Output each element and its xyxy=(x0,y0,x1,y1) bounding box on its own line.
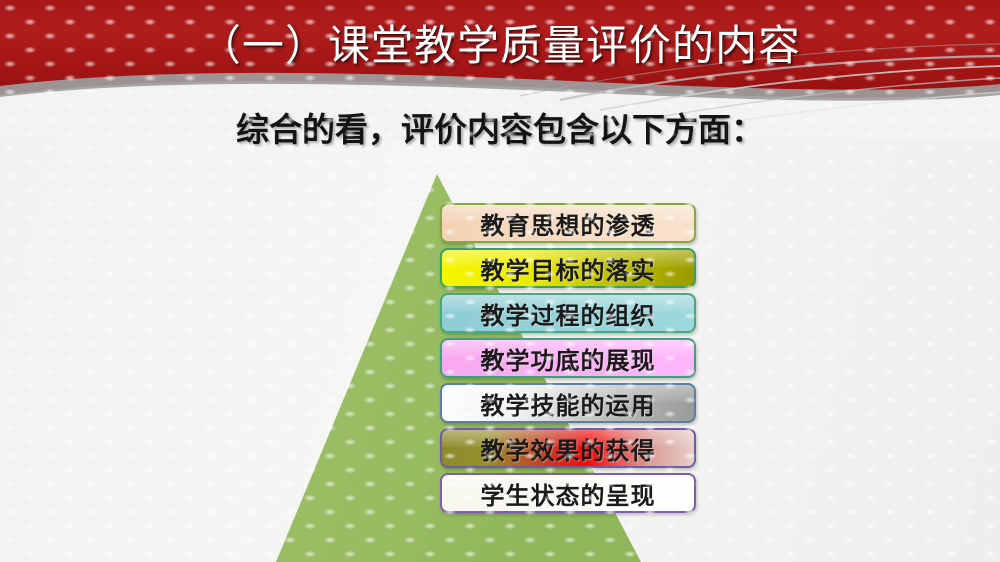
page-title: （一）课堂教学质量评价的内容 xyxy=(0,12,1000,73)
content-item-label: 教学效果的获得 xyxy=(481,431,656,466)
content-item-5[interactable]: 教学技能的运用 xyxy=(440,383,696,423)
content-item-label: 教学过程的组织 xyxy=(481,296,656,331)
slide-subtitle: 综合的看，评价内容包含以下方面： xyxy=(0,103,1000,151)
presentation-slide: （一）课堂教学质量评价的内容 综合的看，评价内容包含以下方面： 教育思想的渗透 … xyxy=(0,0,1000,562)
content-item-2[interactable]: 教学目标的落实 xyxy=(440,248,696,288)
content-item-label: 教学目标的落实 xyxy=(481,251,656,286)
content-item-3[interactable]: 教学过程的组织 xyxy=(440,293,696,333)
content-item-4[interactable]: 教学功底的展现 xyxy=(440,338,696,378)
content-item-1[interactable]: 教育思想的渗透 xyxy=(440,203,696,243)
content-item-7[interactable]: 学生状态的呈现 xyxy=(440,473,696,513)
content-item-label: 学生状态的呈现 xyxy=(481,476,656,511)
content-item-label: 教学技能的运用 xyxy=(481,386,656,421)
content-item-6[interactable]: 教学效果的获得 xyxy=(440,428,696,468)
content-item-label: 教育思想的渗透 xyxy=(481,206,656,241)
content-item-label: 教学功底的展现 xyxy=(481,341,656,376)
content-item-list: 教育思想的渗透 教学目标的落实 教学过程的组织 教学功底的展现 教学技能的运用 … xyxy=(440,203,696,518)
